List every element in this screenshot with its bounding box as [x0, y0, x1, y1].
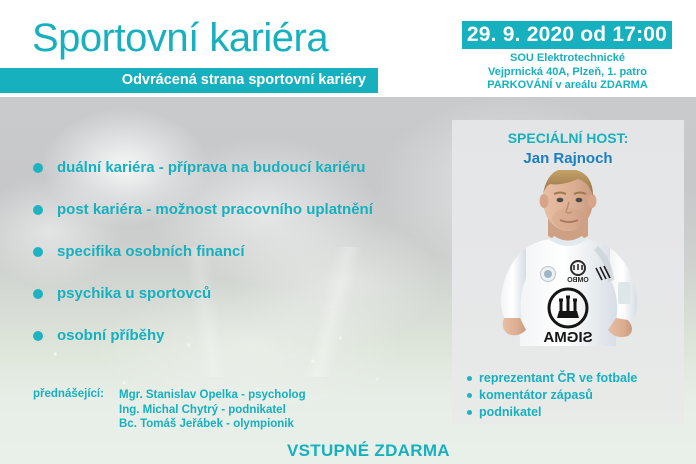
list-item: specifika osobních financí	[33, 244, 433, 260]
list-item: osobní příběhy	[33, 328, 433, 344]
bullet-dot-icon	[33, 331, 43, 341]
topic-label: post kariéra - možnost pracovního uplatn…	[57, 201, 373, 218]
poster-header: Sportovní kariéra Odvrácená strana sport…	[0, 0, 696, 97]
bullet-dot-icon	[33, 247, 43, 257]
topic-label: psychika u sportovců	[57, 285, 211, 302]
svg-text:ОМВО: ОМВО	[567, 277, 589, 284]
list-item: psychika u sportovců	[33, 286, 433, 302]
topic-list: duální kariéra - příprava na budoucí kar…	[33, 160, 433, 370]
topic-label: osobní příběhy	[57, 327, 165, 344]
topic-label: duální kariéra - příprava na budoucí kar…	[57, 159, 365, 176]
svg-text:SIGMA: SIGMA	[543, 329, 592, 346]
page-title: Sportovní kariéra	[32, 17, 328, 59]
special-guest-name: Jan Rajnoch	[452, 150, 684, 167]
bullet-dot-icon	[467, 410, 472, 415]
guest-photo: ОМВО SIGMA	[460, 170, 676, 370]
lecturer-name: Bc. Tomáš Jeřábek - olympionik	[119, 417, 306, 432]
venue-line-2: Vejprnická 40A, Plzeň, 1. patro	[455, 66, 680, 80]
bullet-dot-icon	[33, 205, 43, 215]
bullet-dot-icon	[467, 393, 472, 398]
event-poster: Sportovní kariéra Odvrácená strana sport…	[0, 0, 696, 464]
list-item: post kariéra - možnost pracovního uplatn…	[33, 202, 433, 218]
subtitle-text: Odvrácená strana sportovní kariéry	[0, 68, 378, 93]
venue-block: SOU Elektrotechnické Vejprnická 40A, Plz…	[455, 52, 680, 93]
list-item: reprezentant ČR ve fotbale	[466, 370, 684, 387]
venue-line-1: SOU Elektrotechnické	[455, 52, 680, 66]
lecturers-label: přednášející:	[33, 388, 104, 400]
special-guest-panel: SPECIÁLNÍ HOST: Jan Rajnoch	[452, 120, 684, 424]
subtitle-bar: Odvrácená strana sportovní kariéry	[0, 68, 378, 93]
guest-bullet-label: podnikatel	[479, 405, 542, 419]
topic-label: specifika osobních financí	[57, 243, 245, 260]
venue-line-3: PARKOVÁNÍ v areálu ZDARMA	[455, 79, 680, 93]
date-badge: 29. 9. 2020 od 17:00	[462, 21, 672, 49]
special-guest-label: SPECIÁLNÍ HOST:	[452, 130, 684, 146]
lecturer-name: Mgr. Stanislav Opelka - psycholog	[119, 388, 306, 403]
bullet-dot-icon	[467, 376, 472, 381]
lecturers-names: Mgr. Stanislav Opelka - psycholog Ing. M…	[119, 388, 306, 432]
list-item: komentátor zápasů	[466, 387, 684, 404]
date-text: 29. 9. 2020 od 17:00	[462, 21, 672, 49]
list-item: podnikatel	[466, 404, 684, 421]
bullet-dot-icon	[33, 289, 43, 299]
guest-bullet-label: komentátor zápasů	[479, 388, 593, 402]
guest-bullet-list: reprezentant ČR ve fotbale komentátor zá…	[466, 370, 684, 421]
bullet-dot-icon	[33, 163, 43, 173]
list-item: duální kariéra - příprava na budoucí kar…	[33, 160, 433, 176]
free-entry-text: VSTUPNÉ ZDARMA	[287, 441, 450, 461]
guest-bullet-label: reprezentant ČR ve fotbale	[479, 371, 637, 385]
lecturer-name: Ing. Michal Chytrý - podnikatel	[119, 403, 306, 418]
